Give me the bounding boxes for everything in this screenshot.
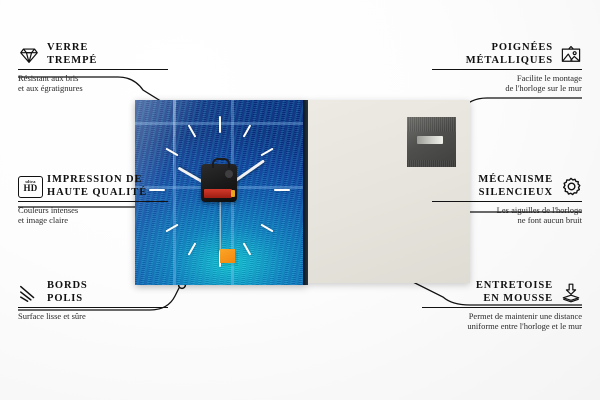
feature-title: IMPRESSION DE HAUTE QUALITÉ xyxy=(47,174,147,199)
polished-edges-icon xyxy=(18,282,40,304)
decor-grid-v1 xyxy=(173,100,176,285)
battery xyxy=(204,189,232,198)
feature-header: POIGNÉES MÉTALLIQUES xyxy=(432,42,582,67)
feature-rule xyxy=(422,307,582,308)
decor-grid-h1 xyxy=(135,122,307,125)
feature-subtitle: Les aiguilles de l'horloge ne font aucun… xyxy=(432,205,582,226)
ultra-hd-big-text: HD xyxy=(23,184,37,193)
feature-rule xyxy=(18,307,168,308)
feature-title: VERRE TREMPÉ xyxy=(47,42,97,67)
feature-subtitle: Permet de maintenir une distance uniform… xyxy=(422,311,582,332)
clock-tick-11 xyxy=(188,124,197,137)
feature-bords-polis: BORDS POLIS Surface lisse et sûre xyxy=(18,280,168,321)
feature-header: MÉCANISME SILENCIEUX xyxy=(432,174,582,199)
foam-spacer xyxy=(220,249,235,263)
clock-tick-3 xyxy=(274,189,290,191)
feature-header: ultra HD IMPRESSION DE HAUTE QUALITÉ xyxy=(18,174,168,199)
clock-tick-12 xyxy=(219,116,221,133)
clock-tick-5 xyxy=(243,242,252,255)
clock-mechanism xyxy=(201,164,237,202)
mechanism-hook xyxy=(212,158,230,168)
feature-poignees-metalliques: POIGNÉES MÉTALLIQUES Facilite le montage… xyxy=(432,42,582,94)
clock-tick-1 xyxy=(243,124,252,137)
feature-header: VERRE TREMPÉ xyxy=(18,42,168,67)
hanger-slot xyxy=(417,136,443,144)
metal-hanger-plate xyxy=(407,117,456,167)
feature-mecanisme-silencieux: MÉCANISME SILENCIEUX Les aiguilles de l'… xyxy=(432,174,582,226)
feature-rule xyxy=(18,201,168,202)
clock-tick-4 xyxy=(260,224,273,233)
gear-icon xyxy=(560,176,582,198)
feature-rule xyxy=(18,69,168,70)
foam-spacer-icon xyxy=(560,282,582,304)
clock-tick-2 xyxy=(260,148,273,157)
ultra-hd-icon: ultra HD xyxy=(18,176,40,198)
feature-subtitle: Couleurs intenses et image claire xyxy=(18,205,168,226)
feature-title: MÉCANISME SILENCIEUX xyxy=(478,174,553,199)
infographic-canvas: VERRE TREMPÉ Résistant aux bris et aux é… xyxy=(0,0,600,400)
diamond-icon xyxy=(18,44,40,66)
feature-header: BORDS POLIS xyxy=(18,280,168,305)
feature-title: ENTRETOISE EN MOUSSE xyxy=(476,280,553,305)
product-image xyxy=(135,100,470,285)
feature-subtitle: Facilite le montage de l'horloge sur le … xyxy=(432,73,582,94)
feature-title: BORDS POLIS xyxy=(47,280,88,305)
feature-title: POIGNÉES MÉTALLIQUES xyxy=(466,42,553,67)
feature-verre-trempe: VERRE TREMPÉ Résistant aux bris et aux é… xyxy=(18,42,168,94)
mechanism-dial xyxy=(225,170,233,178)
feature-entretoise-mousse: ENTRETOISE EN MOUSSE Permet de maintenir… xyxy=(422,280,582,332)
picture-hanger-icon xyxy=(560,44,582,66)
clock-tick-7 xyxy=(188,242,197,255)
feature-impression-hd: ultra HD IMPRESSION DE HAUTE QUALITÉ Cou… xyxy=(18,174,168,226)
feature-header: ENTRETOISE EN MOUSSE xyxy=(422,280,582,305)
clock-tick-10 xyxy=(165,148,178,157)
feature-rule xyxy=(432,69,582,70)
feature-subtitle: Surface lisse et sûre xyxy=(18,311,168,322)
feature-rule xyxy=(432,201,582,202)
feature-subtitle: Résistant aux bris et aux égratignures xyxy=(18,73,168,94)
